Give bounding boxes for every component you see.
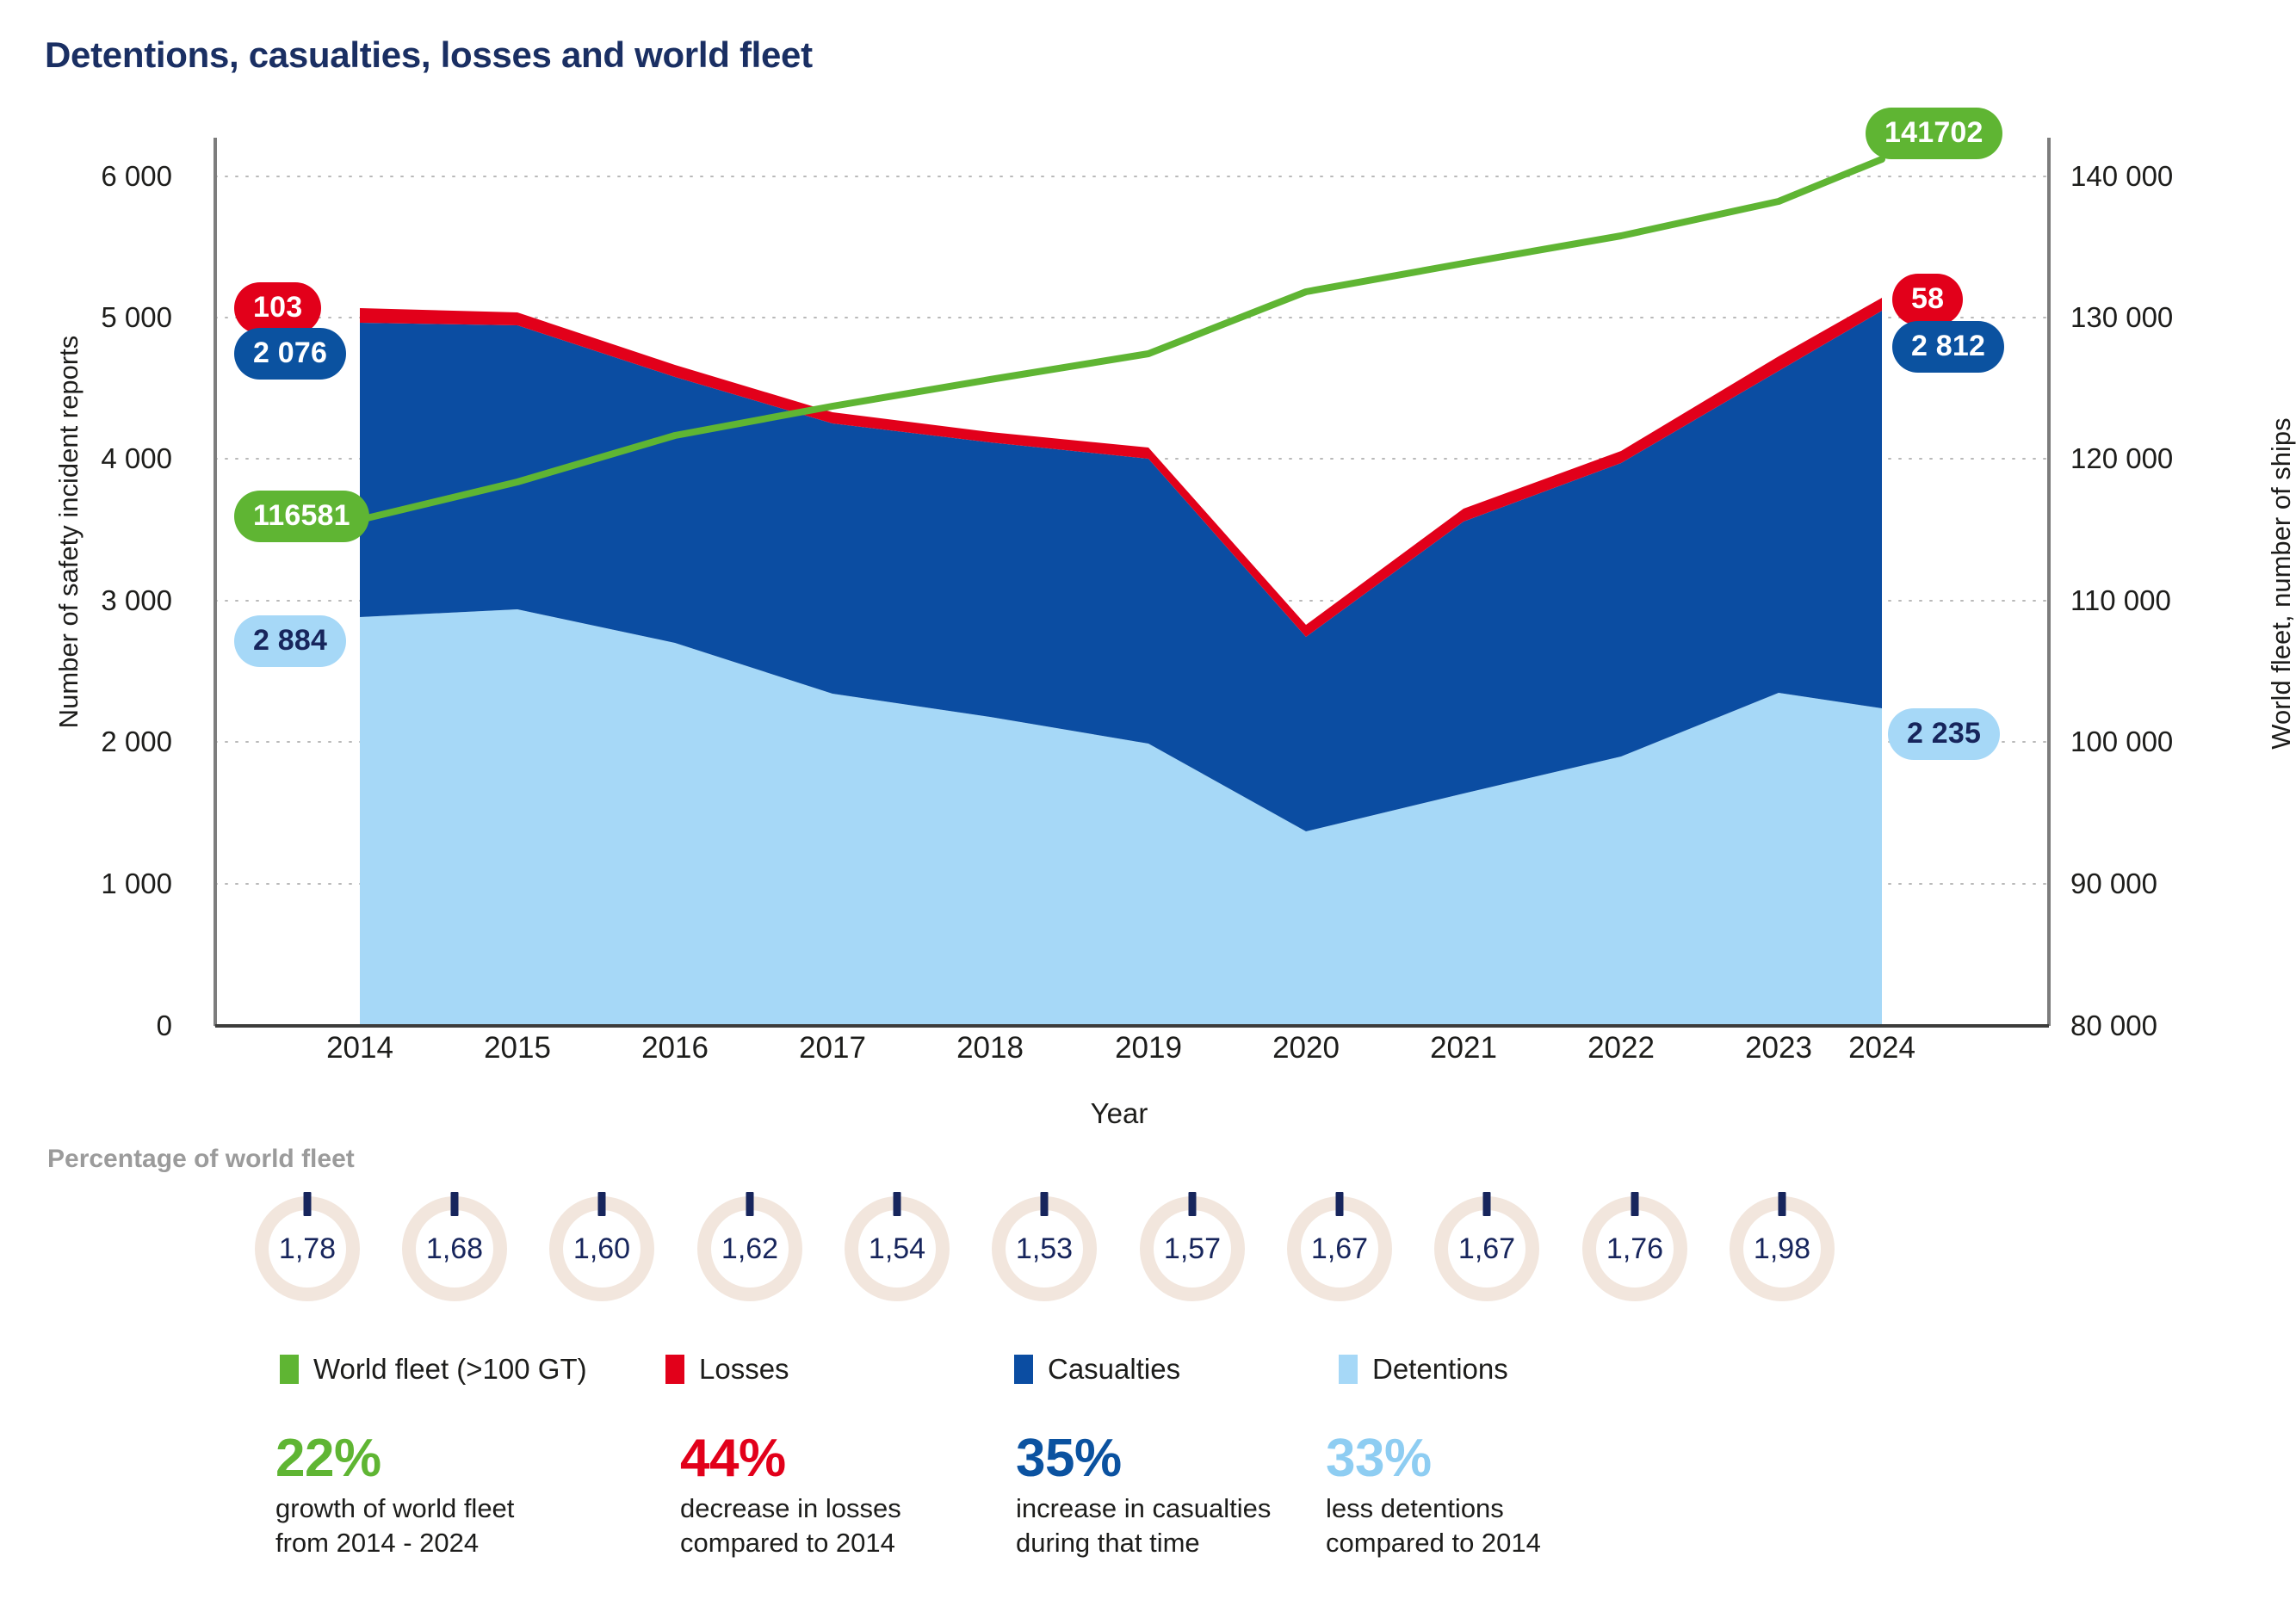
callout-casualties-2024: 2 812 xyxy=(1892,321,2004,373)
x-tick-2014: 2014 xyxy=(274,1031,446,1065)
x-tick-2022: 2022 xyxy=(1535,1031,1707,1065)
y-axis-left-title: Number of safety incident reports xyxy=(53,256,84,807)
stat-value-world-fleet: 22% xyxy=(275,1430,514,1486)
y-tick-right-0: 80 000 xyxy=(2070,1010,2268,1042)
legend-swatch-casualties xyxy=(1014,1355,1033,1384)
donut-2020: 1,57 xyxy=(1140,1196,1245,1301)
legend-label-losses: Losses xyxy=(699,1353,789,1386)
y-tick-right-1: 90 000 xyxy=(2070,868,2268,900)
x-tick-2017: 2017 xyxy=(746,1031,919,1065)
legend-item-losses: Losses xyxy=(665,1353,789,1386)
legend-item-casualties: Casualties xyxy=(1014,1353,1180,1386)
x-tick-2024: 2024 xyxy=(1796,1031,1968,1065)
callout-world-fleet-2024: 141702 xyxy=(1866,108,2002,159)
y-tick-right-2: 100 000 xyxy=(2070,726,2268,758)
callout-detentions-2014: 2 884 xyxy=(234,615,346,667)
donut-value: 1,57 xyxy=(1140,1196,1245,1301)
y-tick-left-4: 4 000 xyxy=(9,442,172,475)
y-axis-right-title: World fleet, number of ships xyxy=(2266,308,2296,859)
donut-value: 1,67 xyxy=(1434,1196,1539,1301)
stat-desc-losses: decrease in losses compared to 2014 xyxy=(680,1491,901,1559)
legend-item-world-fleet: World fleet (>100 GT) xyxy=(280,1353,587,1386)
legend-swatch-losses xyxy=(665,1355,684,1384)
stat-desc-world-fleet: growth of world fleet from 2014 - 2024 xyxy=(275,1491,514,1559)
percentage-section-label: Percentage of world fleet xyxy=(47,1145,355,1174)
stat-detentions: 33% less detentions compared to 2014 xyxy=(1326,1430,1541,1559)
donut-value: 1,98 xyxy=(1730,1196,1835,1301)
donut-value: 1,68 xyxy=(402,1196,507,1301)
stat-value-casualties: 35% xyxy=(1016,1430,1271,1486)
donut-value: 1,78 xyxy=(255,1196,360,1301)
donut-value: 1,67 xyxy=(1287,1196,1392,1301)
y-tick-left-1: 1 000 xyxy=(9,868,172,900)
stat-world-fleet: 22% growth of world fleet from 2014 - 20… xyxy=(275,1430,514,1559)
donut-value: 1,54 xyxy=(845,1196,950,1301)
legend-label-detentions: Detentions xyxy=(1372,1353,1508,1386)
callout-losses-2014: 103 xyxy=(234,282,321,334)
donut-2021: 1,67 xyxy=(1287,1196,1392,1301)
donut-2015: 1,68 xyxy=(402,1196,507,1301)
y-tick-right-5: 130 000 xyxy=(2070,301,2268,334)
y-tick-right-4: 120 000 xyxy=(2070,442,2268,475)
donut-2023: 1,76 xyxy=(1582,1196,1687,1301)
stat-desc-casualties: increase in casualties during that time xyxy=(1016,1491,1271,1559)
y-tick-left-6: 6 000 xyxy=(9,160,172,193)
legend-label-world-fleet: World fleet (>100 GT) xyxy=(313,1353,587,1386)
donut-2017: 1,62 xyxy=(697,1196,802,1301)
donut-2022: 1,67 xyxy=(1434,1196,1539,1301)
y-tick-left-2: 2 000 xyxy=(9,726,172,758)
x-tick-2015: 2015 xyxy=(431,1031,603,1065)
donut-2014: 1,78 xyxy=(255,1196,360,1301)
stat-value-losses: 44% xyxy=(680,1430,901,1486)
donut-value: 1,53 xyxy=(992,1196,1097,1301)
x-tick-2018: 2018 xyxy=(904,1031,1076,1065)
y-tick-left-0: 0 xyxy=(9,1010,172,1042)
callout-casualties-2014: 2 076 xyxy=(234,328,346,380)
x-tick-2020: 2020 xyxy=(1220,1031,1392,1065)
x-axis-title: Year xyxy=(947,1097,1291,1130)
donut-value: 1,60 xyxy=(549,1196,654,1301)
donut-2024: 1,98 xyxy=(1730,1196,1835,1301)
y-tick-right-3: 110 000 xyxy=(2070,584,2268,617)
legend-swatch-world-fleet xyxy=(280,1355,299,1384)
y-tick-left-5: 5 000 xyxy=(9,301,172,334)
legend: World fleet (>100 GT) Losses Casualties … xyxy=(0,1353,2296,1393)
callout-detentions-2024: 2 235 xyxy=(1888,708,2000,760)
y-tick-left-3: 3 000 xyxy=(9,584,172,617)
callout-world-fleet-2014: 116581 xyxy=(234,491,369,542)
donut-2019: 1,53 xyxy=(992,1196,1097,1301)
callout-losses-2024: 58 xyxy=(1892,274,1963,325)
y-tick-right-6: 140 000 xyxy=(2070,160,2268,193)
stat-casualties: 35% increase in casualties during that t… xyxy=(1016,1430,1271,1559)
x-tick-2021: 2021 xyxy=(1377,1031,1550,1065)
donut-2016: 1,60 xyxy=(549,1196,654,1301)
stat-value-detentions: 33% xyxy=(1326,1430,1541,1486)
legend-label-casualties: Casualties xyxy=(1048,1353,1180,1386)
legend-item-detentions: Detentions xyxy=(1339,1353,1508,1386)
legend-swatch-detentions xyxy=(1339,1355,1358,1384)
stat-desc-detentions: less detentions compared to 2014 xyxy=(1326,1491,1541,1559)
donut-value: 1,76 xyxy=(1582,1196,1687,1301)
x-tick-2016: 2016 xyxy=(589,1031,761,1065)
donut-value: 1,62 xyxy=(697,1196,802,1301)
donut-2018: 1,54 xyxy=(845,1196,950,1301)
x-tick-2019: 2019 xyxy=(1062,1031,1235,1065)
stat-losses: 44% decrease in losses compared to 2014 xyxy=(680,1430,901,1559)
